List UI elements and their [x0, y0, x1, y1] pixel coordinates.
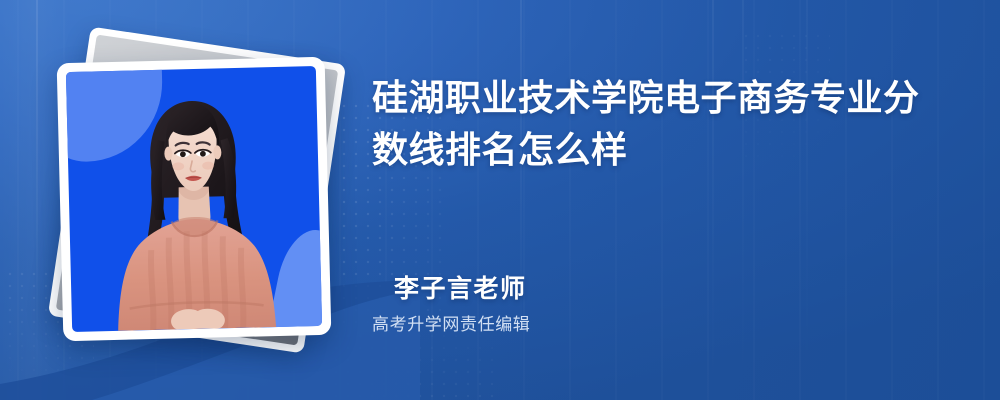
portrait-figure — [66, 66, 322, 332]
banner-text-column: 硅湖职业技术学院电子商务专业分 数线排名怎么样 李子言老师 高考升学网责任编辑 — [372, 0, 972, 400]
photo-card-stack — [44, 38, 354, 358]
author-role: 高考升学网责任编辑 — [372, 312, 792, 338]
author-portrait-photo — [66, 66, 322, 332]
page-title-line-2: 数线排名怎么样 — [372, 124, 962, 176]
page-title: 硅湖职业技术学院电子商务专业分 数线排名怎么样 — [372, 72, 962, 176]
page-title-line-1: 硅湖职业技术学院电子商务专业分 — [372, 72, 962, 124]
author-name: 李子言老师 — [394, 272, 792, 306]
byline: 李子言老师 高考升学网责任编辑 — [372, 272, 792, 338]
photo-card-front — [57, 57, 332, 341]
banner-canvas: 硅湖职业技术学院电子商务专业分 数线排名怎么样 李子言老师 高考升学网责任编辑 — [0, 0, 1000, 400]
